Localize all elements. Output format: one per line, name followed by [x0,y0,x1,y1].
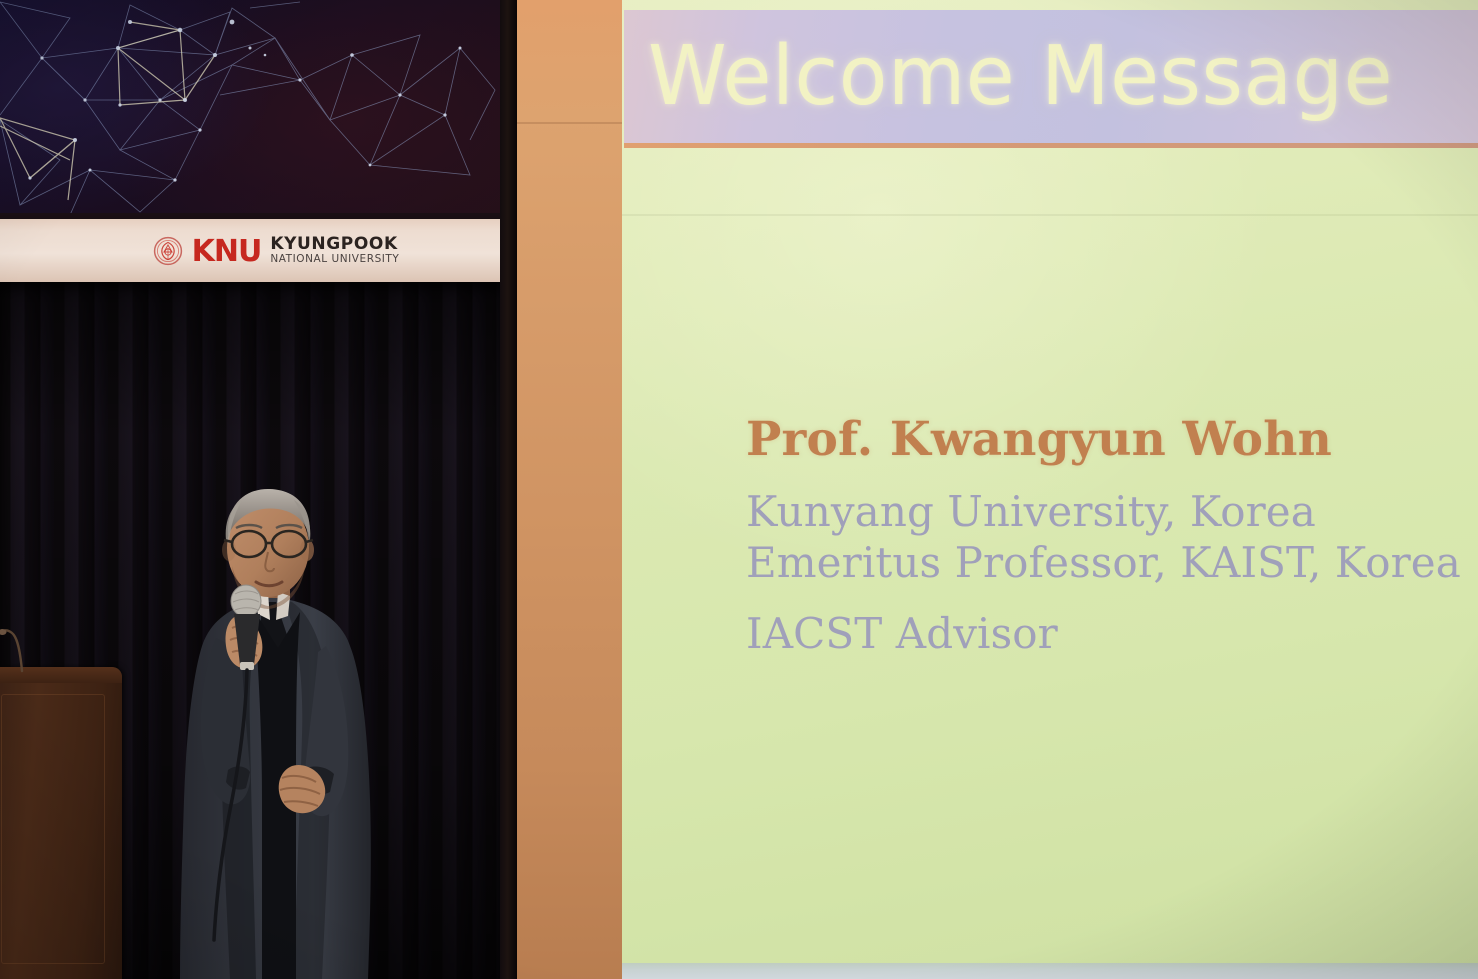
hall-wall-edge [500,0,517,979]
auditorium-wall [517,0,622,979]
knu-acronym: KNU [192,237,262,267]
slide-body: Prof. Kwangyun Wohn Kunyang University, … [746,415,1476,657]
lectern [0,667,122,979]
knu-seal-icon [153,236,183,266]
network-backdrop-graphic [0,0,500,219]
knu-name-line-2: NATIONAL UNIVERSITY [270,254,399,265]
slide-affiliation-3: IACST Advisor [746,610,1476,657]
speaker-figure [150,470,420,979]
knu-banner: KNU KYUNGPOOK NATIONAL UNIVERSITY [0,219,500,282]
slide-title-band: Welcome Message [624,10,1478,143]
screen-seam [622,214,1478,216]
projected-slide: Welcome Message Prof. Kwangyun Wohn Kuny… [622,0,1478,979]
knu-name-line-1: KYUNGPOOK [270,236,399,254]
slide-footer-bar [622,963,1478,979]
wall-seam [517,122,622,124]
slide-title: Welcome Message [648,36,1393,118]
slide-affiliation-1: Kunyang University, Korea [746,488,1476,535]
gooseneck-microphone-icon [0,627,38,675]
knu-university-name: KYUNGPOOK NATIONAL UNIVERSITY [270,236,399,266]
slide-affiliation-2: Emeritus Professor, KAIST, Korea [746,539,1476,586]
lectern-panel-inset [1,694,105,964]
presentation-photo-scene: KNU KYUNGPOOK NATIONAL UNIVERSITY [0,0,1478,979]
slide-speaker-name: Prof. Kwangyun Wohn [746,415,1476,464]
